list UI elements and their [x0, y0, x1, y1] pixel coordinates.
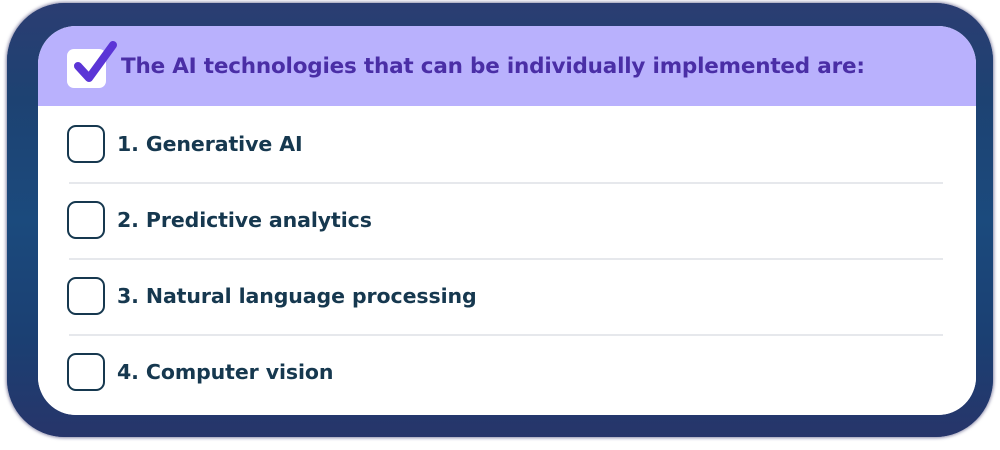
- list-item[interactable]: 3. Natural language processing: [38, 258, 976, 334]
- outer-frame: The AI technologies that can be individu…: [7, 3, 993, 437]
- header-checkbox-checked[interactable]: [67, 44, 111, 88]
- checkbox-item-1[interactable]: [67, 125, 105, 163]
- card-header: The AI technologies that can be individu…: [38, 26, 976, 106]
- checkbox-item-4[interactable]: [67, 353, 105, 391]
- list-item-label: 4. Computer vision: [117, 360, 333, 384]
- list-item-label: 1. Generative AI: [117, 132, 302, 156]
- quiz-card: The AI technologies that can be individu…: [38, 26, 976, 415]
- list-item[interactable]: 2. Predictive analytics: [38, 182, 976, 258]
- checklist: 1. Generative AI 2. Predictive analytics…: [38, 106, 976, 415]
- page-title: The AI technologies that can be individu…: [121, 54, 865, 79]
- checkbox-item-3[interactable]: [67, 277, 105, 315]
- list-item-label: 2. Predictive analytics: [117, 208, 372, 232]
- list-item[interactable]: 1. Generative AI: [38, 106, 976, 182]
- list-item[interactable]: 4. Computer vision: [38, 334, 976, 410]
- screenshot-root: The AI technologies that can be individu…: [0, 0, 1000, 450]
- checkbox-item-2[interactable]: [67, 201, 105, 239]
- check-mark-icon: [66, 39, 122, 95]
- list-item-label: 3. Natural language processing: [117, 284, 477, 308]
